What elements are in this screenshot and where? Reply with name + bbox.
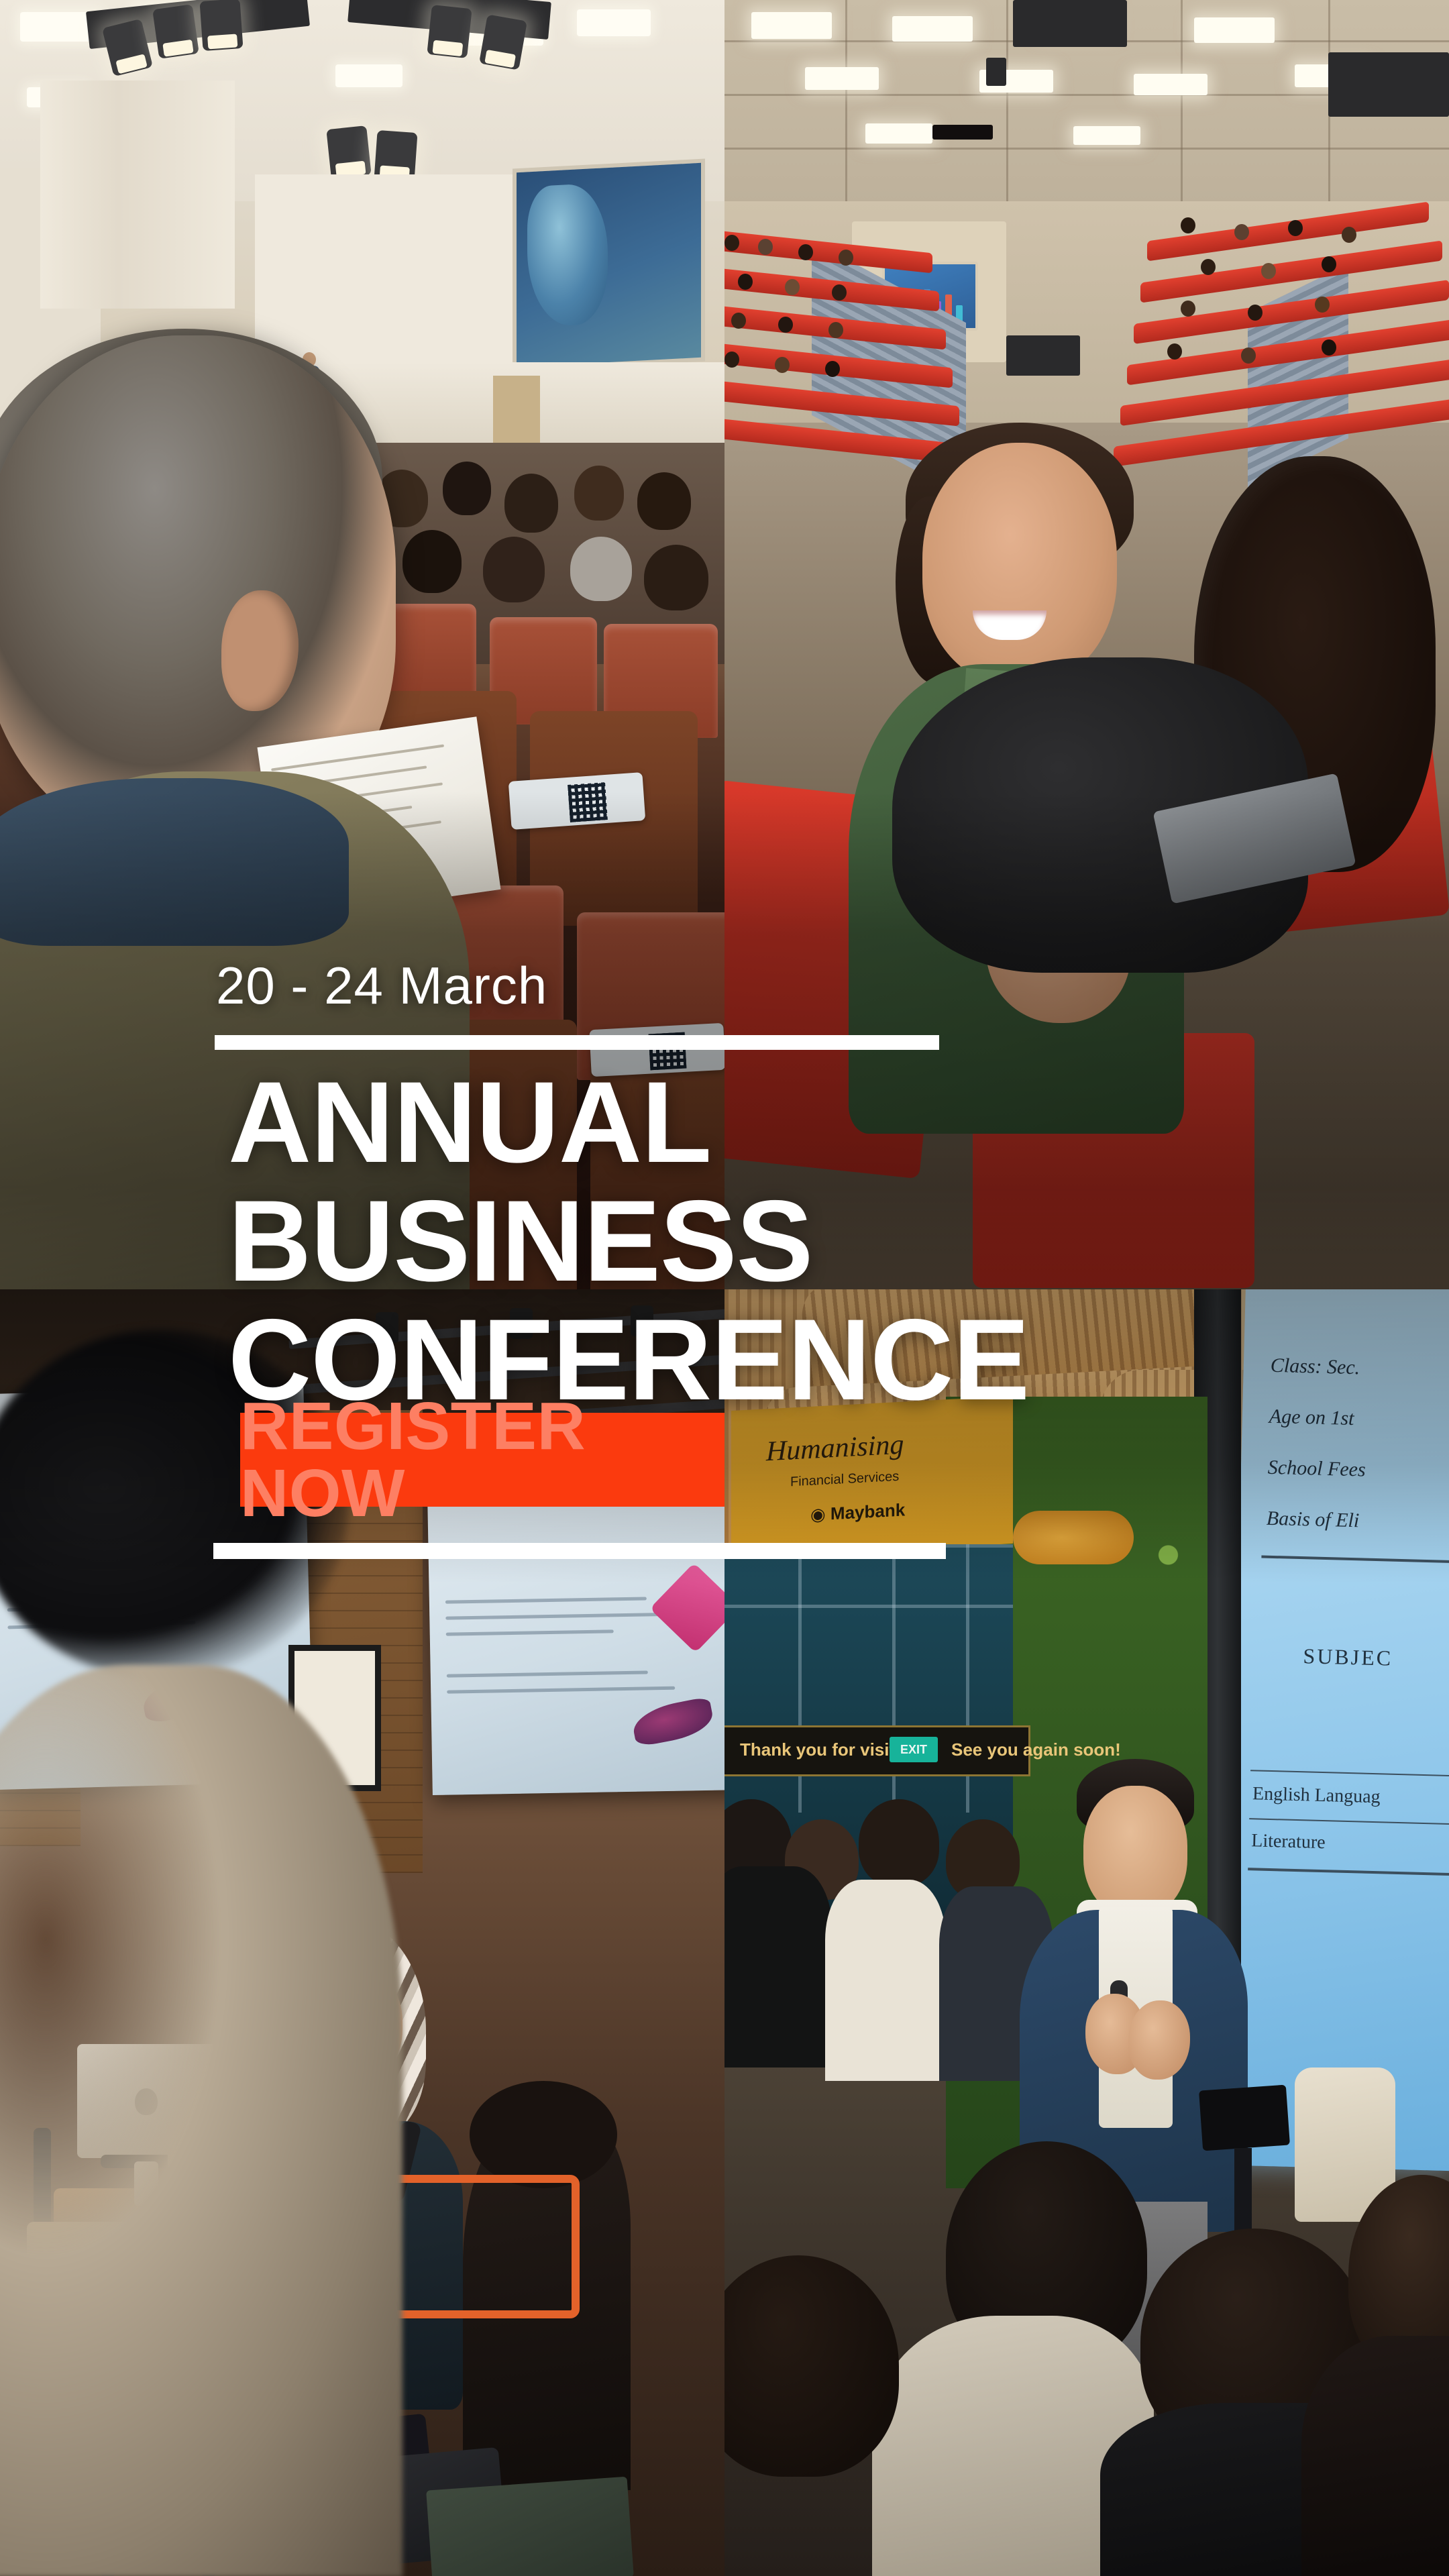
text-overlay: 20 - 24 March ANNUAL BUSINESS CONFERENCE…	[0, 0, 1449, 2576]
poster-canvas: Class: Sec. Age on 1st School Fees Basis…	[0, 0, 1449, 2576]
event-date: 20 - 24 March	[216, 959, 547, 1012]
rule-bottom	[213, 1543, 946, 1559]
event-title: ANNUAL BUSINESS CONFERENCE	[228, 1063, 1409, 1419]
title-line-2: BUSINESS	[228, 1182, 1409, 1301]
register-now-label: REGISTER NOW	[240, 1393, 724, 1527]
title-line-1: ANNUAL	[228, 1063, 1409, 1182]
register-now-button[interactable]: REGISTER NOW	[240, 1413, 724, 1507]
rule-top	[215, 1035, 939, 1050]
